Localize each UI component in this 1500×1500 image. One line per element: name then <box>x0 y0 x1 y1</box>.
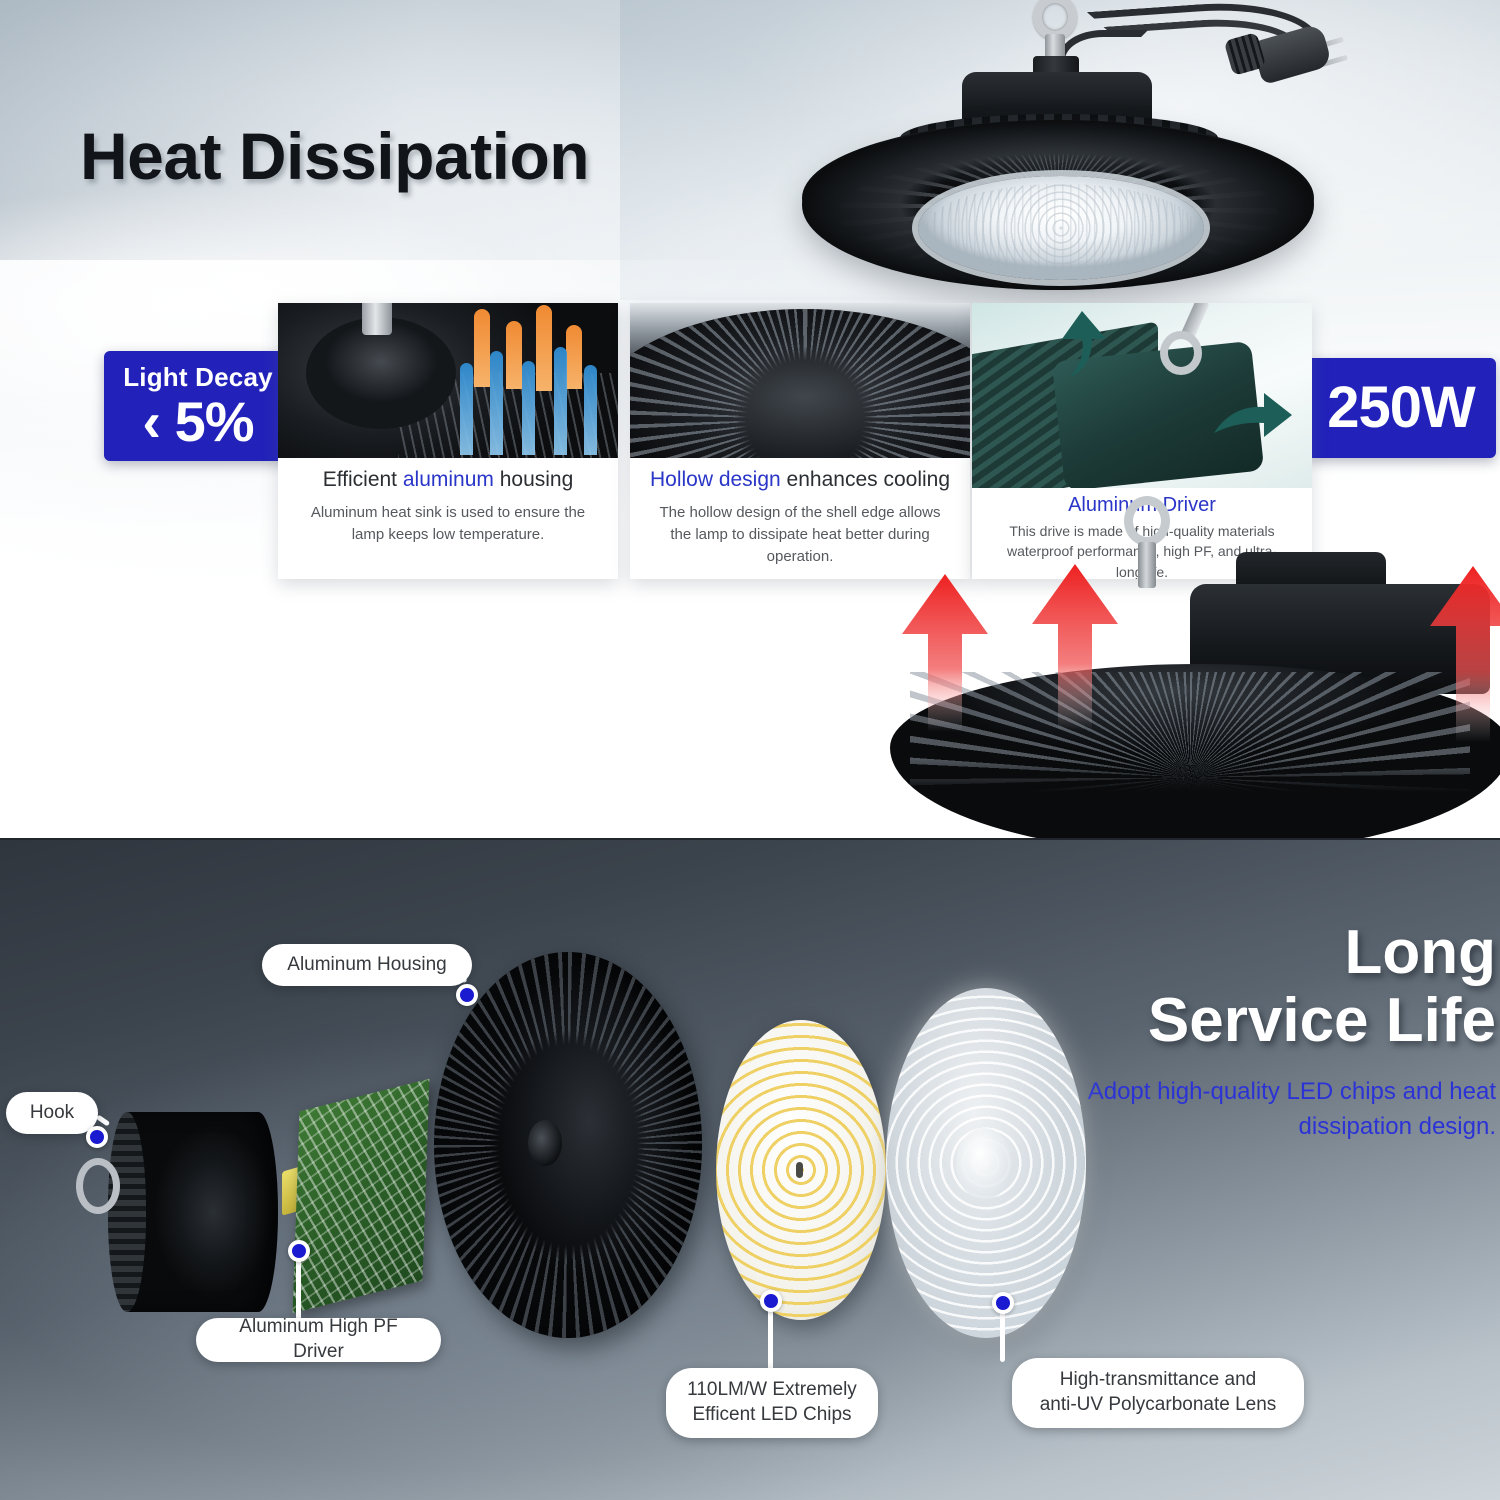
section-title-long: Long <box>1256 922 1496 984</box>
lens-texture <box>926 184 1196 272</box>
callout-label-led-chips: 110LM/W Extremely Efficent LED Chips <box>666 1368 878 1438</box>
callout-label-driver: Aluminum High PF Driver <box>196 1318 441 1362</box>
light-decay-badge: Light Decay ‹ 5% <box>104 351 292 461</box>
callout-line-1: 110LM/W Extremely <box>687 1378 857 1403</box>
heat-up-arrow-icon <box>1028 562 1122 730</box>
light-lens <box>918 176 1204 280</box>
teal-driver-arrows-icon <box>972 303 1312 488</box>
heat-dissipation-section: Heat Dissipation Light Decay ‹ 5% 250W <box>0 0 1500 838</box>
hook-stem-icon <box>1138 542 1156 588</box>
wattage-badge: 250W <box>1306 358 1496 458</box>
heatsink-airflow-icon <box>278 303 618 458</box>
wattage-value: 250W <box>1327 379 1475 437</box>
end-cap-rim <box>108 1112 146 1312</box>
heat-up-arrow-icon <box>1426 564 1500 742</box>
callout-dot <box>992 1292 1014 1314</box>
hook-ring-icon <box>1124 496 1170 546</box>
page-title-heat-dissipation: Heat Dissipation <box>80 118 589 194</box>
callout-line-2: anti-UV Polycarbonate Lens <box>1040 1393 1277 1418</box>
callout-line-1: High-transmittance and <box>1060 1368 1256 1393</box>
lens-center-hub <box>956 1128 1012 1200</box>
feature-card-title: Hollow design enhances cooling <box>630 458 970 492</box>
light-decay-value: ‹ 5% <box>142 394 253 450</box>
section-title-service-life: Service Life <box>1010 990 1496 1052</box>
housing-fins <box>434 952 702 1338</box>
housing-center-hub <box>528 1120 562 1166</box>
ufo-light-heat-rising-image <box>880 560 1500 838</box>
driver-pcb-part <box>293 1079 430 1314</box>
right-arrow-icon <box>1210 389 1296 449</box>
led-board-center-hole <box>796 1162 803 1178</box>
callout-label-aluminum-housing: Aluminum Housing <box>262 944 472 986</box>
hollow-fin-edge-icon <box>630 303 970 458</box>
feature-card-body: The hollow design of the shell edge allo… <box>630 492 970 567</box>
feature-card-aluminum-housing: Efficient aluminum housing Aluminum heat… <box>278 303 618 579</box>
callout-leader-line <box>768 1308 773 1370</box>
callout-line-2: Efficent LED Chips <box>692 1403 851 1428</box>
callout-leader-line <box>1000 1310 1005 1362</box>
feature-card-body: Aluminum heat sink is used to ensure the… <box>278 492 618 546</box>
hook-ring-icon <box>76 1158 120 1214</box>
callout-dot <box>760 1290 782 1312</box>
callout-dot <box>456 984 478 1006</box>
feature-card-hollow-design: Hollow design enhances cooling The hollo… <box>630 303 970 579</box>
light-fins <box>910 672 1470 792</box>
callout-label-hook: Hook <box>6 1092 98 1134</box>
callout-dot <box>288 1240 310 1262</box>
light-decay-label: Light Decay <box>123 364 273 390</box>
ufo-high-bay-light-image <box>790 0 1410 294</box>
callout-dot <box>86 1126 108 1148</box>
up-arrow-icon <box>1048 309 1118 381</box>
feature-card-title: Efficient aluminum housing <box>278 458 618 492</box>
heat-up-arrow-icon <box>898 572 992 732</box>
callout-label-lens: High-transmittance and anti-UV Polycarbo… <box>1012 1358 1304 1428</box>
callout-leader-line <box>296 1258 301 1320</box>
